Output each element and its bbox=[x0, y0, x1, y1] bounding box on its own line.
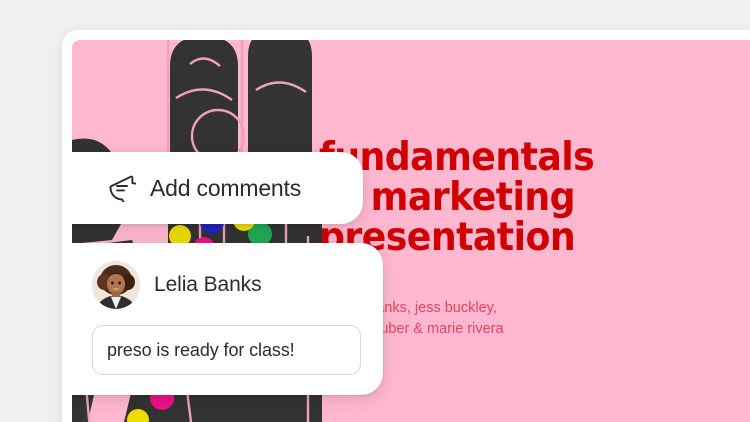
comment-input[interactable]: preso is ready for class! bbox=[92, 325, 361, 375]
comment-card: Lelia Banks preso is ready for class! bbox=[72, 243, 383, 395]
presentation-slide-frame: fundamentals of marketing presentation b… bbox=[62, 30, 750, 422]
presentation-slide-canvas[interactable]: fundamentals of marketing presentation b… bbox=[72, 40, 750, 422]
comment-bubble-icon bbox=[108, 174, 136, 202]
avatar[interactable] bbox=[92, 261, 140, 309]
slide-title: fundamentals of marketing presentation bbox=[319, 138, 691, 258]
comment-author-name: Lelia Banks bbox=[154, 273, 261, 297]
add-comments-label: Add comments bbox=[150, 175, 301, 202]
comment-author-row: Lelia Banks bbox=[92, 259, 361, 311]
add-comments-button[interactable]: Add comments bbox=[72, 152, 363, 224]
